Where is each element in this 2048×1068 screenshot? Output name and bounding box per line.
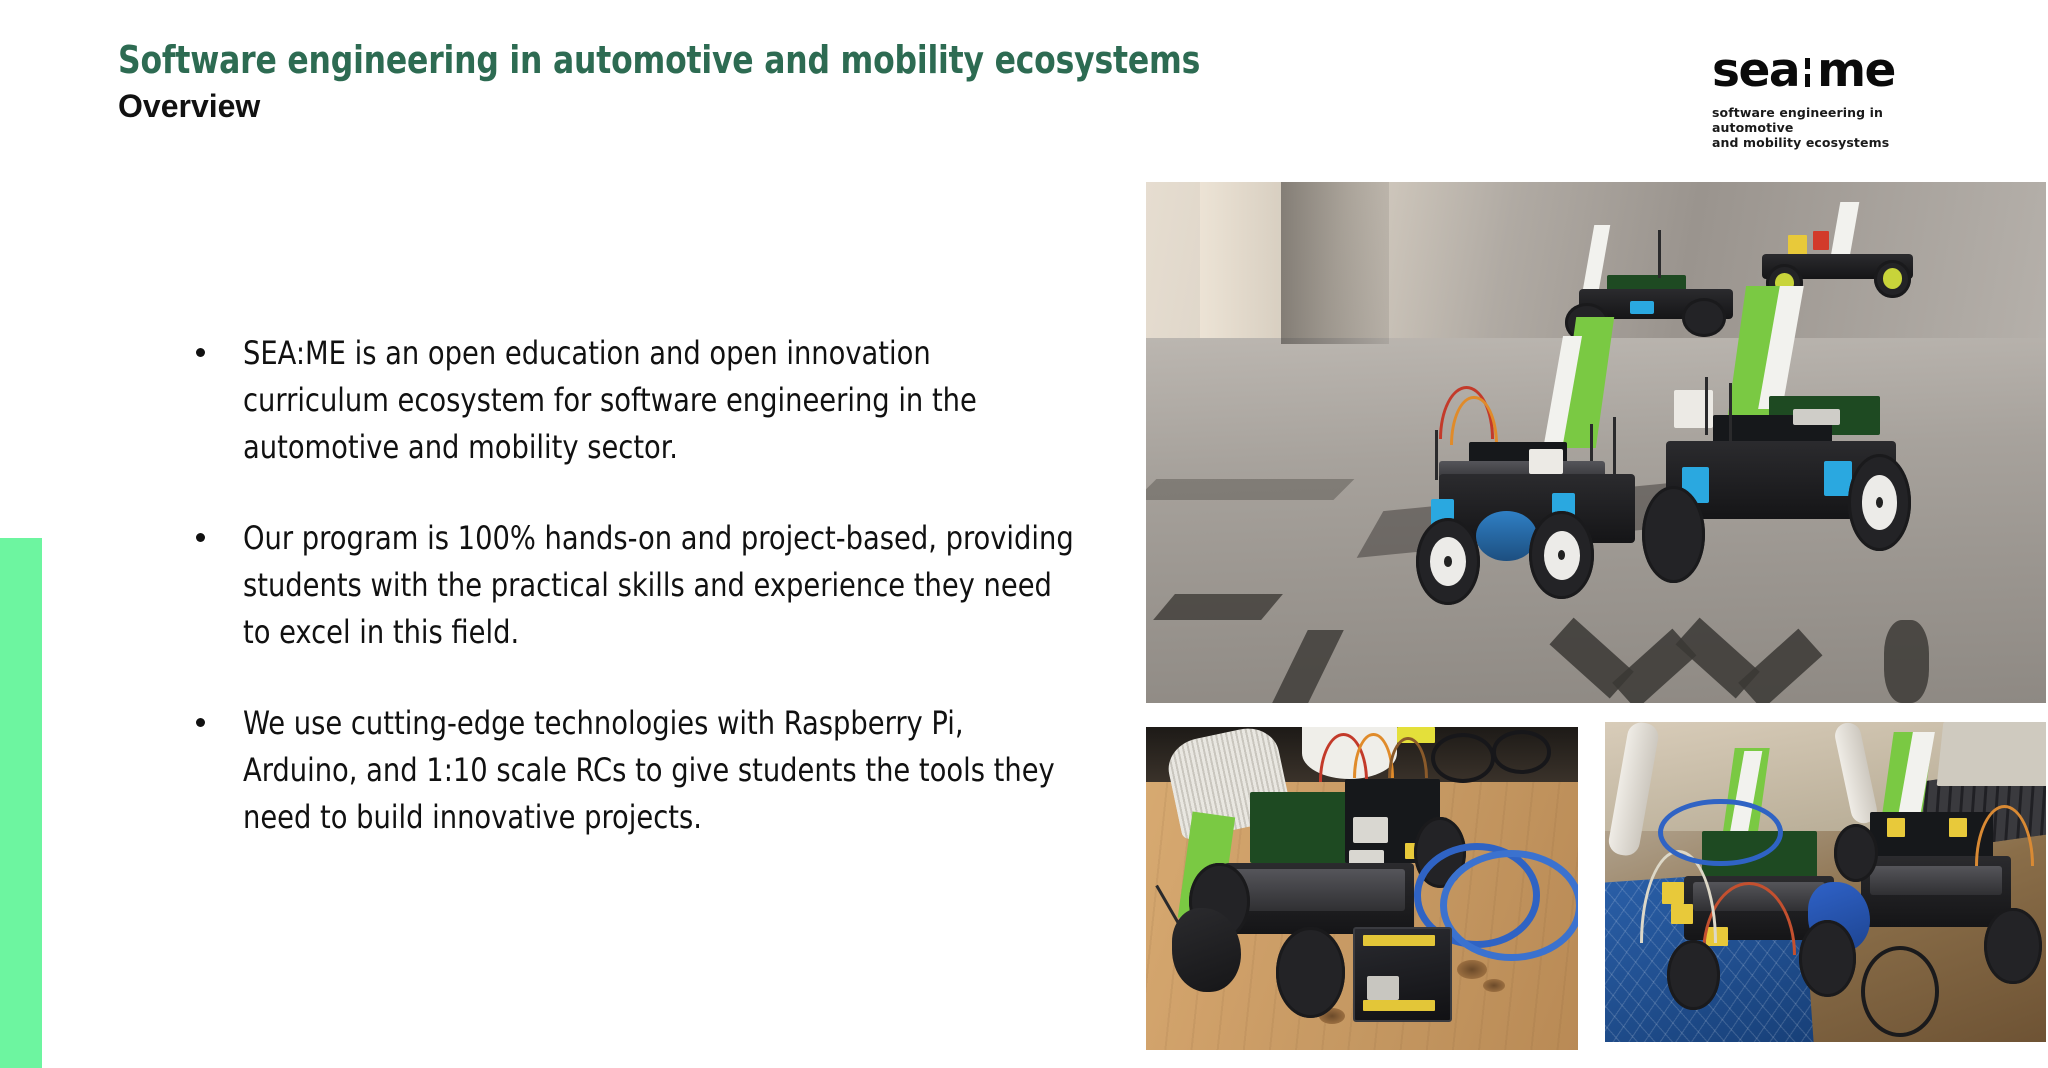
- list-item: We use cutting-edge technologies with Ra…: [188, 700, 1118, 841]
- bullet-list: SEA:ME is an open education and open inn…: [188, 330, 1118, 841]
- bullet-text: We use cutting-edge technologies with Ra…: [243, 700, 1074, 841]
- page-subtitle: Overview: [118, 86, 1318, 126]
- bullet-text: Our program is 100% hands-on and project…: [243, 515, 1074, 656]
- bullet-dot-icon: [196, 348, 205, 357]
- photo-rc-workbench-content: [1605, 722, 2046, 1042]
- logo-wordmark: sea me: [1712, 46, 1972, 96]
- slide-header: Software engineering in automotive and m…: [118, 38, 1318, 126]
- logo-tagline: software engineering in automotive and m…: [1712, 105, 1936, 150]
- photo-rc-raspberry-pi-content: [1146, 727, 1578, 1050]
- logo-tagline-line-1: software engineering in automotive: [1712, 105, 1936, 135]
- logo-word-left: sea: [1712, 46, 1799, 96]
- logo-tagline-line-2: and mobility ecosystems: [1712, 135, 1936, 150]
- list-item: Our program is 100% hands-on and project…: [188, 515, 1118, 656]
- seame-logo: sea me software engineering in automotiv…: [1712, 46, 1972, 150]
- photo-rc-workbench: [1605, 722, 2046, 1042]
- logo-word-right: me: [1817, 46, 1895, 96]
- page-title: Software engineering in automotive and m…: [118, 38, 1222, 82]
- list-item: SEA:ME is an open education and open inn…: [188, 330, 1118, 471]
- bullet-dot-icon: [196, 533, 205, 542]
- bullet-text: SEA:ME is an open education and open inn…: [243, 330, 1074, 471]
- photo-rc-cars-track: [1146, 182, 2046, 703]
- bullet-dot-icon: [196, 718, 205, 727]
- logo-divider-icon: [1805, 58, 1810, 87]
- left-accent-bar: [0, 538, 42, 1068]
- photo-rc-raspberry-pi: [1146, 727, 1578, 1050]
- photo-rc-cars-track-content: [1146, 182, 2046, 703]
